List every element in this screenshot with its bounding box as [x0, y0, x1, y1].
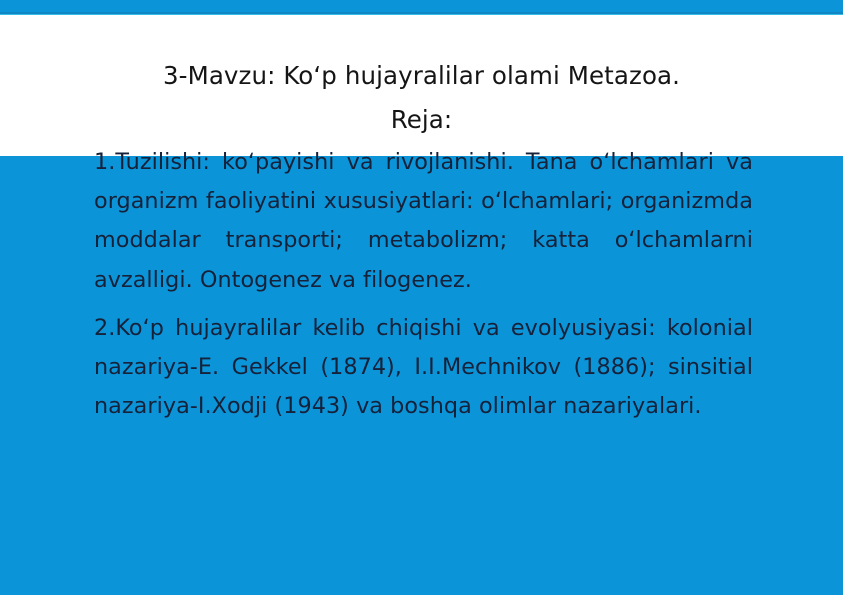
slide-body-content: 1.Tuzilishi: koʻpayishi va rivojlanishi.…	[94, 143, 753, 426]
top-accent-bar	[0, 0, 843, 12]
slide-title: 3-Mavzu: Koʻp hujayralilar olami Metazoa…	[0, 57, 843, 95]
subtitle-container: Reja:	[0, 103, 843, 137]
slide-subtitle: Reja:	[0, 103, 843, 137]
title-container: 3-Mavzu: Koʻp hujayralilar olami Metazoa…	[0, 57, 843, 95]
body-paragraph-1: 1.Tuzilishi: koʻpayishi va rivojlanishi.…	[94, 143, 753, 300]
body-paragraph-2: 2.Koʻp hujayralilar kelib chiqishi va ev…	[94, 309, 753, 427]
presentation-slide: 3-Mavzu: Koʻp hujayralilar olami Metazoa…	[0, 0, 843, 595]
